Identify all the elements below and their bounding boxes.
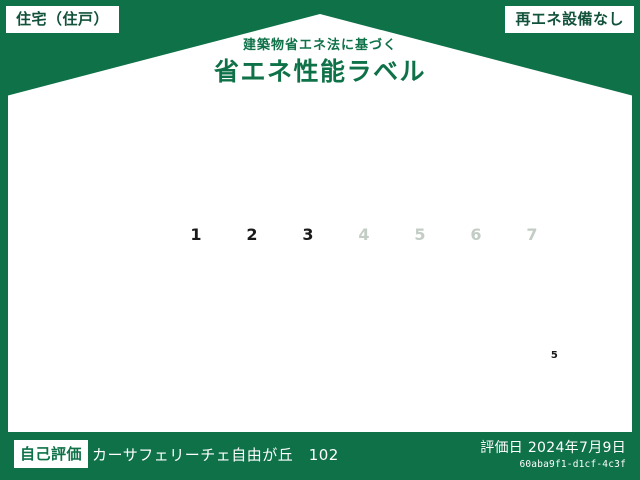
- building-name: カーサフェリーチェ自由が丘 102: [92, 444, 339, 465]
- title-subtitle: 建築物省エネ法に基づく: [0, 38, 640, 54]
- house-level-number: 4: [358, 227, 369, 247]
- house-level-number: 1: [190, 227, 201, 247]
- renewable-energy-badge: 再エネ設備なし: [505, 6, 634, 33]
- house-level-number: 3: [302, 227, 313, 247]
- house-level-number: 2: [246, 227, 257, 247]
- self-evaluation-badge: 自己評価: [14, 440, 88, 468]
- footer-left: 自己評価 カーサフェリーチェ自由が丘 102: [14, 440, 339, 468]
- house-level-number: 5: [414, 227, 425, 247]
- evaluation-id: 60aba9f1-d1cf-4c3f: [480, 459, 626, 470]
- page-title: 建築物省エネ法に基づく 省エネ性能ラベル: [0, 38, 640, 87]
- footer-right: 評価日 2024年7月9日 60aba9f1-d1cf-4c3f: [480, 437, 626, 470]
- house-level-number: 7: [526, 227, 537, 247]
- housing-type-badge: 住宅（住戸）: [6, 6, 119, 33]
- title-main: 省エネ性能ラベル: [0, 56, 640, 87]
- house-icon: 5: [544, 346, 566, 363]
- house-level-number: 6: [470, 227, 481, 247]
- house-level-number: 5: [544, 346, 566, 365]
- evaluation-date: 評価日 2024年7月9日: [480, 437, 626, 457]
